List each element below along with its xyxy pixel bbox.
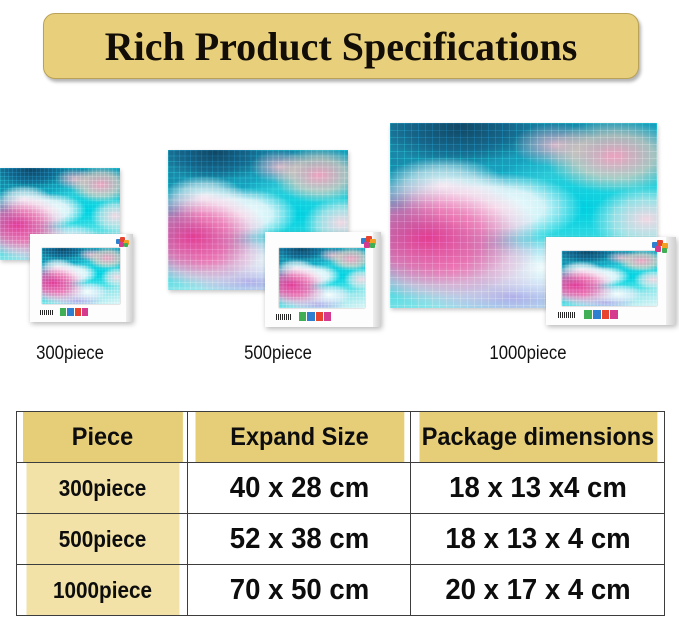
cell-package-300: 18 x 13 x4 cm <box>417 463 658 514</box>
cell-piece-500: 500piece <box>25 514 179 565</box>
barcode-icon <box>558 312 576 318</box>
table-row: 1000piece 70 x 50 cm 20 x 17 x 4 cm <box>17 565 665 616</box>
cell-expand-500: 52 x 38 cm <box>193 514 405 565</box>
cell-piece-1000: 1000piece <box>25 565 179 616</box>
box-window-artwork <box>279 248 365 308</box>
barcode-icon <box>276 314 292 320</box>
table-header-row: Piece Expand Size Package dimensions <box>17 412 665 463</box>
puzzle-pieces-logo-icon <box>116 237 130 248</box>
brand-logo-icon <box>584 310 618 319</box>
page-title-banner: Rich Product Specifications <box>43 13 639 79</box>
size-label-1000: 1000piece <box>466 343 589 365</box>
size-label-300: 300piece <box>8 343 131 365</box>
cell-piece-300: 300piece <box>25 463 179 514</box>
puzzle-box-icon <box>30 234 133 322</box>
brand-logo-icon <box>60 308 88 316</box>
puzzle-grid-texture <box>279 248 365 308</box>
column-header-piece: Piece <box>22 412 183 463</box>
puzzle-grid-texture <box>42 248 120 304</box>
cell-package-500: 18 x 13 x 4 cm <box>417 514 658 565</box>
column-header-package-dimensions: Package dimensions <box>418 412 657 463</box>
box-window-artwork <box>562 251 657 306</box>
table-row: 500piece 52 x 38 cm 18 x 13 x 4 cm <box>17 514 665 565</box>
specification-table: Piece Expand Size Package dimensions 300… <box>16 411 665 616</box>
page-title: Rich Product Specifications <box>105 23 578 70</box>
puzzle-grid-texture <box>562 251 657 306</box>
table-row: 300piece 40 x 28 cm 18 x 13 x4 cm <box>17 463 665 514</box>
barcode-icon <box>40 310 54 315</box>
cell-package-1000: 20 x 17 x 4 cm <box>417 565 658 616</box>
brand-logo-icon <box>299 312 331 321</box>
puzzle-pieces-logo-icon <box>652 240 669 253</box>
puzzle-pieces-logo-icon <box>361 236 377 248</box>
puzzle-box-icon <box>546 237 676 325</box>
cell-expand-300: 40 x 28 cm <box>193 463 405 514</box>
cell-expand-1000: 70 x 50 cm <box>193 565 405 616</box>
column-header-expand-size: Expand Size <box>194 412 404 463</box>
box-window-artwork <box>42 248 120 304</box>
puzzle-box-icon <box>265 232 381 327</box>
size-label-500: 500piece <box>216 343 339 365</box>
